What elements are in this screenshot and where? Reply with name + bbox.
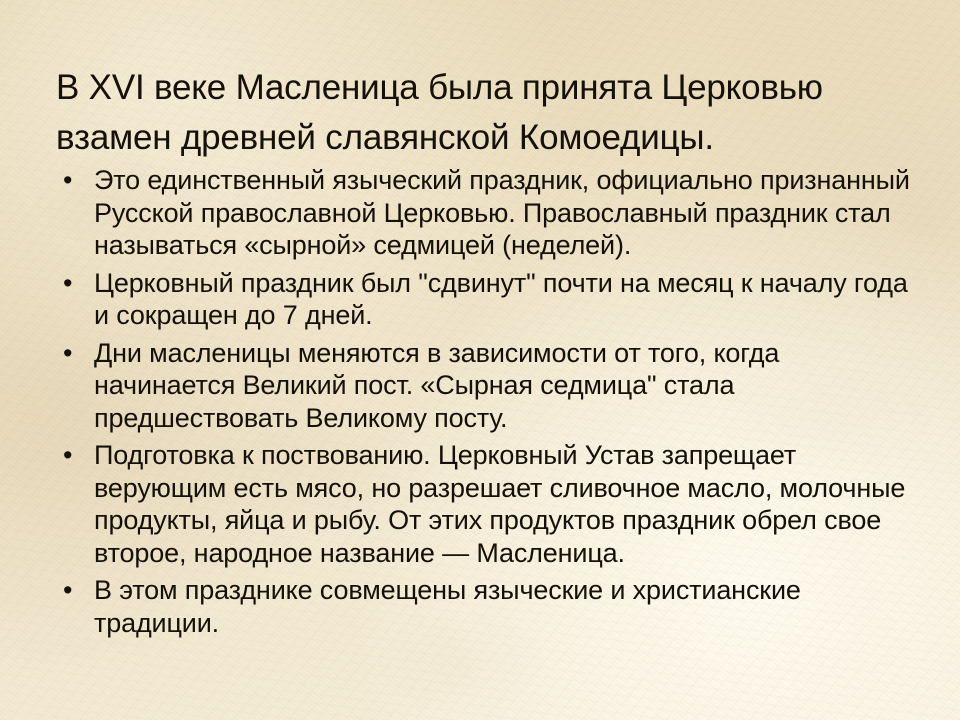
bullet-icon: • bbox=[63, 439, 77, 472]
presentation-slide: В XVI веке Масленица была принята Церков… bbox=[0, 0, 960, 720]
list-item-text: Дни масленицы меняются в зависимости от … bbox=[94, 337, 920, 435]
list-item: • Дни масленицы меняются в зависимости о… bbox=[58, 337, 920, 435]
slide-title: В XVI веке Масленица была принята Церков… bbox=[56, 63, 912, 163]
bullet-icon: • bbox=[63, 337, 77, 370]
bullet-list: • Это единственный языческий праздник, о… bbox=[58, 164, 920, 644]
bullet-icon: • bbox=[63, 164, 77, 197]
bullet-icon: • bbox=[63, 267, 77, 300]
list-item: • В этом празднике совмещены языческие и… bbox=[58, 574, 920, 639]
list-item: • Это единственный языческий праздник, о… bbox=[58, 164, 920, 262]
bullet-icon: • bbox=[63, 574, 77, 607]
list-item-text: В этом празднике совмещены языческие и х… bbox=[94, 574, 920, 639]
list-item: • Церковный праздник был "сдвинут" почти… bbox=[58, 267, 920, 332]
list-item-text: Подготовка к поствованию. Церковный Уста… bbox=[94, 439, 920, 569]
list-item-text: Церковный праздник был "сдвинут" почти н… bbox=[94, 267, 920, 332]
list-item: • Подготовка к поствованию. Церковный Ус… bbox=[58, 439, 920, 569]
list-item-text: Это единственный языческий праздник, офи… bbox=[94, 164, 920, 262]
